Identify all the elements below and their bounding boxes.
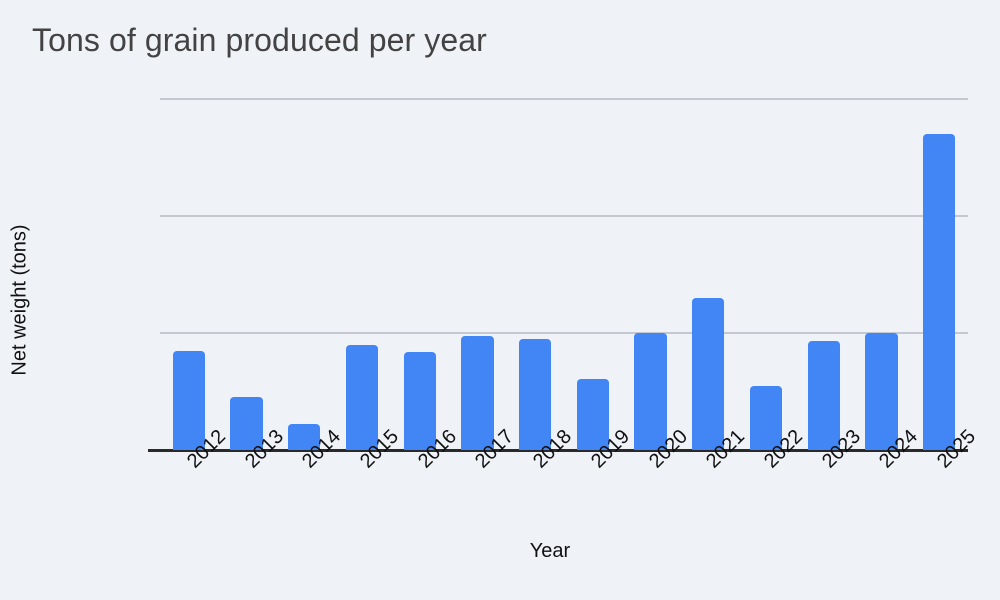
gridline: [160, 215, 968, 217]
gridline: [160, 98, 968, 100]
bar[interactable]: [404, 352, 436, 450]
bar[interactable]: [808, 341, 840, 450]
chart-title: Tons of grain produced per year: [32, 22, 487, 59]
bar-chart: Tons of grain produced per year Net weig…: [0, 0, 1000, 600]
x-axis-title: Year: [0, 540, 1000, 563]
bar[interactable]: [173, 351, 205, 450]
y-axis-title: Net weight (tons): [9, 224, 32, 375]
plot-area: 0200040006000: [160, 99, 968, 450]
bar[interactable]: [692, 298, 724, 450]
bar[interactable]: [923, 134, 955, 450]
bar[interactable]: [634, 333, 666, 450]
bar[interactable]: [461, 336, 493, 450]
bar[interactable]: [346, 345, 378, 450]
bar[interactable]: [519, 339, 551, 450]
bar[interactable]: [865, 333, 897, 450]
x-axis-title-label: Year: [530, 540, 570, 563]
gridline: [160, 332, 968, 334]
